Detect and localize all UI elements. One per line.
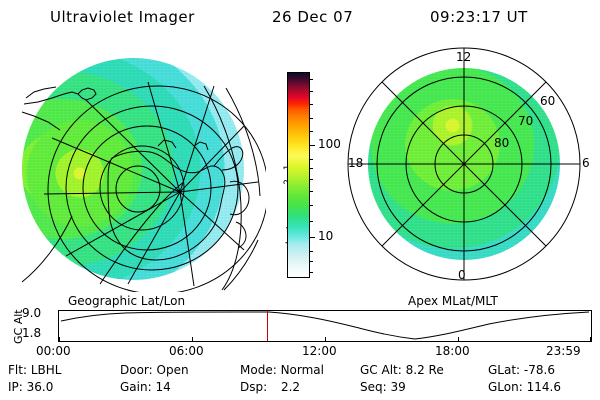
colorbar-minor-tick (309, 168, 313, 169)
status-glon-key: GLon: (488, 380, 523, 394)
colorbar-label-10: 10 (318, 229, 333, 243)
orbit-xlabel-2359: 23:59 (546, 344, 581, 358)
status-ip: IP: 36.0 (8, 379, 120, 396)
colorbar-minor-tick (309, 91, 313, 92)
colorbar-tick-10 (309, 237, 315, 238)
colorbar-minor-tick (309, 205, 313, 206)
colorbar-minor-tick (309, 179, 313, 180)
status-mode: Mode: Normal (240, 362, 360, 379)
orbit-xtick (192, 337, 193, 341)
status-gcalt: GC Alt: 8.2 Re (360, 362, 488, 379)
status-gcalt-value: 8.2 Re (406, 363, 444, 377)
orbit-xtick (590, 337, 591, 341)
status-row-2: IP: 36.0 Gain: 14 Dsp: 2.2 Seq: 39 GLon:… (8, 379, 596, 396)
colorbar-minor-tick (309, 221, 313, 222)
current-time-cursor[interactable] (267, 311, 268, 341)
orbit-xlabel-1200: 12:00 (302, 344, 337, 358)
status-dsp-value: 2.2 (281, 380, 300, 394)
orbit-xlabel-1800: 18:00 (435, 344, 470, 358)
status-door: Door: Open (120, 362, 240, 379)
mlt-label-6: 6 (582, 156, 590, 170)
orbit-xtick (325, 337, 326, 341)
status-ip-key: IP: (8, 380, 23, 394)
colorbar-minor-tick (309, 272, 313, 273)
colorbar-minor-tick (309, 191, 313, 192)
status-dsp: Dsp: 2.2 (240, 379, 360, 396)
status-mode-value: Normal (281, 363, 324, 377)
colorbar-minor-tick (309, 131, 313, 132)
colorbar-minor-tick (309, 104, 313, 105)
status-gcalt-key: GC Alt: (360, 363, 402, 377)
colorbar-tick-100 (309, 145, 315, 146)
orbit-xlabel-0000: 00:00 (36, 344, 71, 358)
right-panel-caption: Apex MLat/MLT (408, 294, 498, 308)
geographic-grid-overlay (8, 42, 266, 292)
mlt-label-18: 18 (348, 156, 363, 170)
orbit-xtick (458, 337, 459, 341)
status-flt-value: LBHL (31, 363, 62, 377)
status-row-1: Flt: LBHL Door: Open Mode: Normal GC Alt… (8, 362, 596, 379)
status-glat-key: GLat: (488, 363, 520, 377)
apex-mlat-mlt-image[interactable]: 12 18 6 0 60 70 80 (336, 42, 594, 292)
status-gain: Gain: 14 (120, 379, 240, 396)
status-gain-value: 14 (155, 380, 170, 394)
observation-date: 26 Dec 07 (272, 8, 353, 26)
left-panel-caption: Geographic Lat/Lon (68, 294, 185, 308)
orbit-xtick (59, 337, 60, 341)
intensity-colorbar[interactable] (287, 72, 310, 278)
colorbar-minor-tick (309, 251, 313, 252)
status-glon: GLon: 114.6 (488, 379, 561, 396)
orbit-ytick-top: 9.0 (22, 306, 41, 320)
status-seq-value: 39 (391, 380, 406, 394)
mlt-label-0: 0 (458, 268, 466, 282)
geographic-polar-image[interactable] (8, 42, 266, 292)
status-bar: Flt: LBHL Door: Open Mode: Normal GC Alt… (8, 362, 596, 396)
mlat-label-70: 70 (518, 114, 533, 128)
colorbar-minor-tick (309, 261, 313, 262)
status-ip-value: 36.0 (27, 380, 54, 394)
status-door-key: Door: (120, 363, 153, 377)
status-glat: GLat: -78.6 (488, 362, 555, 379)
colorbar-minor-tick (309, 159, 313, 160)
uvi-display: Ultraviolet Imager 26 Dec 07 09:23:17 UT (0, 0, 600, 400)
status-gain-key: Gain: (120, 380, 152, 394)
colorbar-minor-tick (309, 79, 313, 80)
colorbar-gradient (288, 73, 309, 277)
observation-time: 09:23:17 UT (430, 8, 528, 26)
status-seq: Seq: 39 (360, 379, 488, 396)
status-dsp-key: Dsp: (240, 380, 267, 394)
status-seq-key: Seq: (360, 380, 387, 394)
status-glat-value: -78.6 (524, 363, 555, 377)
status-flt: Flt: LBHL (8, 362, 120, 379)
mlt-dial-overlay (336, 42, 594, 292)
colorbar-minor-tick (309, 118, 313, 119)
orbit-altitude-plot[interactable] (58, 310, 592, 342)
status-door-value: Open (157, 363, 189, 377)
mlat-label-80: 80 (494, 136, 509, 150)
status-flt-key: Flt: (8, 363, 27, 377)
mlt-label-12: 12 (456, 50, 471, 64)
mlat-label-60: 60 (540, 94, 555, 108)
instrument-title: Ultraviolet Imager (50, 8, 195, 26)
orbit-xlabel-0600: 06:00 (169, 344, 204, 358)
status-mode-key: Mode: (240, 363, 277, 377)
orbit-ytick-bottom: 1.8 (22, 326, 41, 340)
status-glon-value: 114.6 (527, 380, 561, 394)
